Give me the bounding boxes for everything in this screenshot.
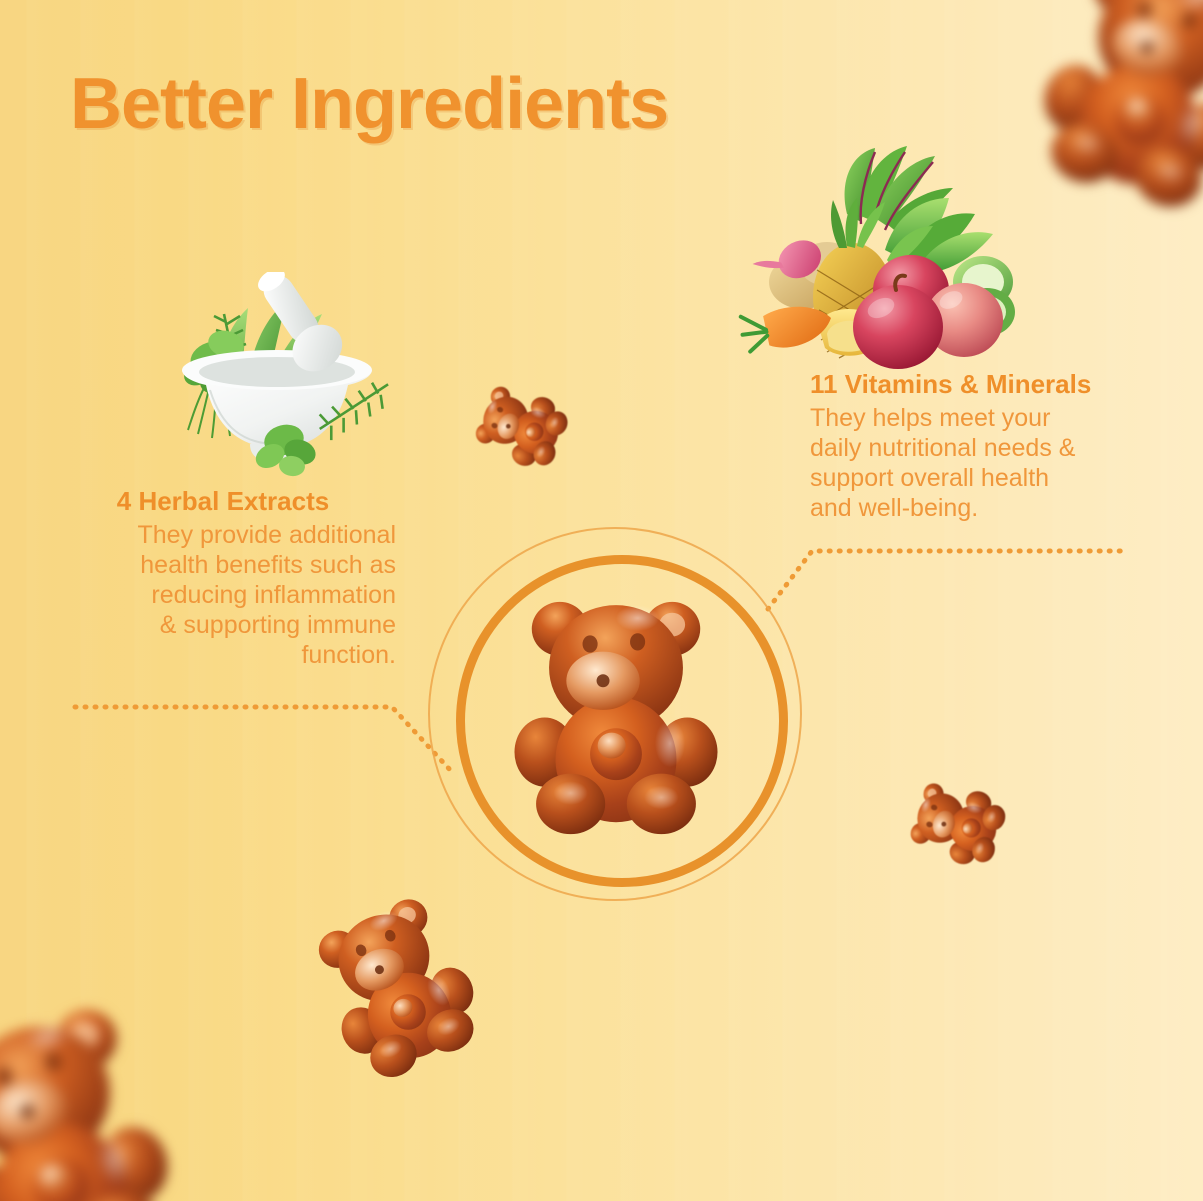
vitamins-minerals-body: They helps meet your daily nutritional n…: [810, 403, 1160, 523]
vitamins-minerals-body-line-4: and well-being.: [810, 493, 1160, 523]
vitamins-minerals-heading: 11 Vitamins & Minerals: [810, 370, 1160, 400]
connector-left: [75, 707, 452, 772]
herbal-extracts-body-line-4: & supporting immune: [56, 610, 396, 640]
vitamins-minerals-body-line-3: support overall health: [810, 463, 1160, 493]
text-block-vitamins-minerals: 11 Vitamins & Minerals They helps meet y…: [810, 370, 1160, 523]
vitamins-minerals-body-line-1: They helps meet your: [810, 403, 1160, 433]
gummy-bear-decoration-bottom-left-corner: [0, 974, 204, 1201]
herbal-extracts-heading: 4 Herbal Extracts: [56, 487, 396, 517]
center-gummy-bear: [508, 565, 724, 857]
gummy-bear-decoration-right: [895, 760, 1018, 887]
infographic-canvas: Better Ingredients: [0, 0, 1203, 1201]
gummy-bear-decoration-upper-middle: [459, 362, 582, 489]
gummy-bear-decoration-top-right-corner: [1016, 0, 1203, 228]
mortar-and-pestle-with-herbs-image: [152, 272, 402, 477]
gummy-bear-decoration-bottom-left: [292, 874, 500, 1097]
vitamins-minerals-body-line-2: daily nutritional needs &: [810, 433, 1160, 463]
herbal-extracts-body-line-5: function.: [56, 640, 396, 670]
herbal-extracts-body-line-1: They provide additional: [56, 520, 396, 550]
page-title: Better Ingredients: [70, 68, 668, 140]
herbal-extracts-body-line-2: health benefits such as: [56, 550, 396, 580]
connector-right: [768, 551, 1128, 609]
fruits-and-vegetables-image: [735, 142, 1020, 372]
herbal-extracts-body-line-3: reducing inflammation: [56, 580, 396, 610]
text-block-herbal-extracts: 4 Herbal Extracts They provide additiona…: [56, 487, 396, 670]
herbal-extracts-body: They provide additional health benefits …: [56, 520, 396, 670]
